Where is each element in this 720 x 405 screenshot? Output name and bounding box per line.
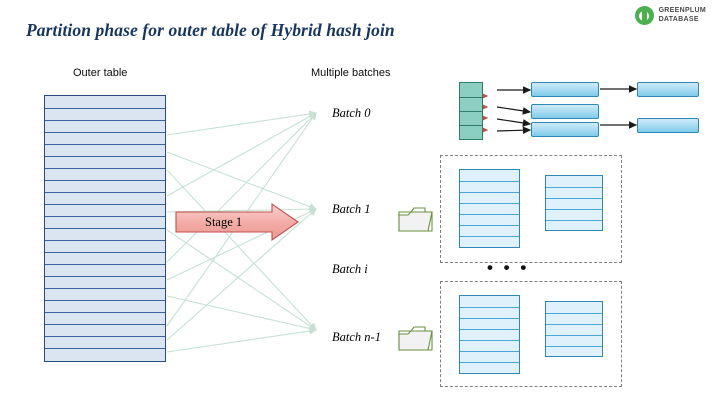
slide-canvas: Partition phase for outer table of Hybri… bbox=[0, 0, 720, 405]
multiple-batches-label: Multiple batches bbox=[311, 67, 391, 79]
green-partition-stack bbox=[459, 82, 483, 140]
batch-block-top-3 bbox=[531, 122, 599, 137]
batch-n-1-stack-b bbox=[545, 301, 603, 357]
folder-icon-batch-n-1 bbox=[398, 325, 434, 358]
batch-1-stack-b bbox=[545, 175, 603, 231]
batch-block-top-2 bbox=[531, 104, 599, 119]
batch-block-top-4 bbox=[637, 82, 699, 97]
batch-1-stack-a bbox=[459, 169, 520, 248]
greenplum-logo-text: GREENPLUM DATABASE bbox=[659, 7, 706, 24]
logo-line-1: GREENPLUM bbox=[659, 7, 706, 16]
page-title: Partition phase for outer table of Hybri… bbox=[26, 20, 395, 41]
batch-label-1: Batch 1 bbox=[332, 202, 371, 217]
ellipsis-label: • • • bbox=[487, 258, 529, 278]
batch-label-i: Batch i bbox=[332, 262, 368, 277]
greenplum-logo-mark bbox=[635, 6, 654, 25]
logo-line-2: DATABASE bbox=[659, 16, 706, 25]
folder-icon-batch-1 bbox=[398, 206, 434, 239]
outer-table bbox=[44, 95, 166, 362]
greenplum-logo: GREENPLUM DATABASE bbox=[635, 6, 706, 25]
batch-label-n-1: Batch n-1 bbox=[332, 330, 381, 345]
batch-block-top-1 bbox=[531, 82, 599, 97]
stage-1-label: Stage 1 bbox=[205, 215, 242, 230]
batch-block-top-5 bbox=[637, 118, 699, 133]
batch-label-0: Batch 0 bbox=[332, 106, 371, 121]
outer-table-label: Outer table bbox=[73, 67, 127, 79]
batch-n-1-stack-a bbox=[459, 295, 520, 374]
